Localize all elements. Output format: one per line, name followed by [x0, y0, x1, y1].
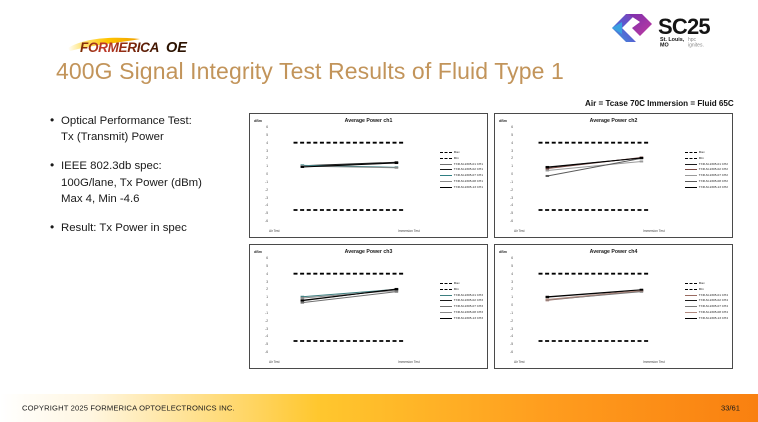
bullet-line: Max 4, Min -4.6: [61, 191, 245, 207]
legend-label: Min: [699, 288, 704, 291]
bullet-item: •IEEE 802.3db spec:100G/lane, Tx Power (…: [50, 158, 245, 207]
y-tick-label: 2: [256, 156, 268, 160]
x-tick-label: Immersion Test: [398, 360, 420, 364]
legend-item: TXR-M-2305-07 CH3: [440, 305, 483, 308]
y-tick-label: 0: [501, 303, 513, 307]
legend-swatch-icon: [685, 181, 697, 182]
y-tick-label: 4: [256, 272, 268, 276]
legend-swatch-icon: [685, 318, 697, 319]
legend-label: TXR-M-2305-08 CH1: [454, 180, 483, 183]
formerica-logo: FORMERICA OE: [66, 36, 216, 56]
x-tick-label: Immersion Test: [398, 229, 420, 233]
legend-item: TXR-M-2305-13 CH2: [685, 186, 728, 189]
legend-item: TXR-M-2305-08 CH1: [440, 180, 483, 183]
slide-canvas: FORMERICA OE SC25 St. Louis, M: [0, 0, 758, 422]
chart-panel: dBmAverage Power ch26543210-1-2-3-4-5-6A…: [494, 113, 733, 238]
svg-text:FORMERICA: FORMERICA: [80, 40, 159, 55]
legend-swatch-icon: [440, 318, 452, 319]
legend-label: Max: [699, 151, 705, 154]
svg-text:ignites.: ignites.: [688, 43, 704, 49]
legend-swatch-icon: [440, 295, 452, 296]
y-tick-label: 1: [256, 164, 268, 168]
legend-swatch-icon: [440, 181, 452, 182]
y-tick-label: -4: [501, 334, 513, 338]
y-tick-label: 5: [256, 133, 268, 137]
y-tick-label: 6: [501, 256, 513, 260]
y-tick-label: -5: [501, 211, 513, 215]
legend-item: TXR-M-2305-13 CH4: [685, 317, 728, 320]
y-tick-label: -2: [256, 188, 268, 192]
y-tick-label: -3: [501, 196, 513, 200]
chart-title: Average Power ch3: [250, 249, 487, 255]
chart-grid: dBmAverage Power ch16543210-1-2-3-4-5-6A…: [249, 113, 733, 375]
legend-swatch-icon: [685, 283, 697, 284]
legend-swatch-icon: [685, 175, 697, 176]
legend-swatch-icon: [440, 169, 452, 170]
svg-text:SC25: SC25: [658, 14, 710, 39]
y-tick-label: -1: [256, 180, 268, 184]
legend-swatch-icon: [685, 158, 697, 159]
legend-item: Min: [685, 157, 728, 160]
legend-item: Max: [440, 151, 483, 154]
y-tick-label: -2: [501, 319, 513, 323]
y-tick-label: -1: [501, 180, 513, 184]
bullet-item: •Optical Performance Test:Tx (Transmit) …: [50, 113, 245, 145]
y-tick-label: 4: [501, 141, 513, 145]
bullet-line: 100G/lane, Tx Power (dBm): [61, 175, 245, 191]
bullet-line: IEEE 802.3db spec:: [61, 158, 245, 174]
chart-legend: MaxMinTXR-M-2305-01 CH2TXR-M-2305-02 CH2…: [685, 151, 728, 189]
x-tick-label: Immersion Test: [643, 229, 665, 233]
chart-legend: MaxMinTXR-M-2305-01 CH1TXR-M-2305-02 CH1…: [440, 151, 483, 189]
y-tick-label: 4: [256, 141, 268, 145]
y-tick-label: -4: [256, 203, 268, 207]
legend-swatch-icon: [440, 312, 452, 313]
x-tick-label: Air Test: [269, 229, 280, 233]
y-tick-label: 0: [256, 303, 268, 307]
y-tick-label: 0: [501, 172, 513, 176]
legend-label: TXR-M-2305-02 CH4: [699, 299, 728, 302]
legend-item: Max: [685, 151, 728, 154]
y-tick-label: -3: [501, 327, 513, 331]
legend-item: TXR-M-2305-08 CH4: [685, 311, 728, 314]
legend-swatch-icon: [685, 164, 697, 165]
y-tick-label: 1: [256, 295, 268, 299]
legend-label: TXR-M-2305-08 CH4: [699, 311, 728, 314]
legend-label: TXR-M-2305-02 CH1: [454, 168, 483, 171]
chart-panel: dBmAverage Power ch16543210-1-2-3-4-5-6A…: [249, 113, 488, 238]
bullet-text: Optical Performance Test:Tx (Transmit) P…: [61, 113, 245, 145]
legend-item: TXR-M-2305-07 CH1: [440, 174, 483, 177]
legend-swatch-icon: [440, 164, 452, 165]
legend-swatch-icon: [440, 175, 452, 176]
sc25-logo: SC25 St. Louis, MO hpc ignites.: [602, 8, 750, 48]
series-line: [547, 291, 641, 300]
legend-label: TXR-M-2305-01 CH4: [699, 294, 728, 297]
y-tick-label: -6: [501, 350, 513, 354]
plot-area: 6543210-1-2-3-4-5-6Air TestImmersion Tes…: [515, 258, 662, 352]
legend-label: Max: [454, 151, 460, 154]
chart-panel: dBmAverage Power ch46543210-1-2-3-4-5-6A…: [494, 244, 733, 369]
legend-item: TXR-M-2305-08 CH3: [440, 311, 483, 314]
x-tick-label: Air Test: [269, 360, 280, 364]
legend-item: Max: [685, 282, 728, 285]
legend-swatch-icon: [440, 152, 452, 153]
legend-item: TXR-M-2305-01 CH1: [440, 163, 483, 166]
legend-item: TXR-M-2305-13 CH1: [440, 186, 483, 189]
legend-label: TXR-M-2305-07 CH2: [699, 174, 728, 177]
series-canvas: [270, 127, 417, 221]
y-tick-label: 3: [256, 149, 268, 153]
legend-item: Min: [685, 288, 728, 291]
bullet-dot-icon: •: [50, 220, 61, 236]
plot-area: 6543210-1-2-3-4-5-6Air TestImmersion Tes…: [270, 127, 417, 221]
plot-area: 6543210-1-2-3-4-5-6Air TestImmersion Tes…: [270, 258, 417, 352]
legend-label: TXR-M-2305-02 CH3: [454, 299, 483, 302]
y-tick-label: 2: [501, 156, 513, 160]
y-tick-label: 1: [501, 164, 513, 168]
legend-swatch-icon: [685, 169, 697, 170]
legend-label: TXR-M-2305-13 CH4: [699, 317, 728, 320]
svg-text:MO: MO: [660, 43, 669, 49]
y-tick-label: 6: [256, 125, 268, 129]
bullet-text: IEEE 802.3db spec:100G/lane, Tx Power (d…: [61, 158, 245, 207]
legend-label: TXR-M-2305-01 CH1: [454, 163, 483, 166]
chart-panel: dBmAverage Power ch36543210-1-2-3-4-5-6A…: [249, 244, 488, 369]
legend-swatch-icon: [440, 158, 452, 159]
bullet-list: •Optical Performance Test:Tx (Transmit) …: [50, 113, 245, 249]
legend-swatch-icon: [685, 312, 697, 313]
legend-item: TXR-M-2305-01 CH3: [440, 294, 483, 297]
y-tick-label: -4: [256, 334, 268, 338]
footer-page-number: 33/61: [721, 404, 740, 413]
legend-item: Min: [440, 288, 483, 291]
legend-swatch-icon: [440, 300, 452, 301]
legend-label: TXR-M-2305-13 CH1: [454, 186, 483, 189]
y-tick-label: -5: [501, 342, 513, 346]
y-tick-label: 6: [256, 256, 268, 260]
legend-swatch-icon: [685, 295, 697, 296]
footer-bar: COPYRIGHT 2025 FORMERICA OPTOELECTRONICS…: [0, 394, 758, 422]
legend-label: TXR-M-2305-08 CH3: [454, 311, 483, 314]
y-tick-label: -4: [501, 203, 513, 207]
legend-label: TXR-M-2305-01 CH2: [699, 163, 728, 166]
legend-item: TXR-M-2305-01 CH2: [685, 163, 728, 166]
legend-item: TXR-M-2305-02 CH2: [685, 168, 728, 171]
legend-label: Min: [454, 288, 459, 291]
legend-label: TXR-M-2305-08 CH2: [699, 180, 728, 183]
x-tick-label: Air Test: [514, 229, 525, 233]
legend-swatch-icon: [685, 152, 697, 153]
bullet-text: Result: Tx Power in spec: [61, 220, 245, 236]
legend-label: TXR-M-2305-13 CH2: [699, 186, 728, 189]
x-tick-label: Immersion Test: [643, 360, 665, 364]
legend-label: TXR-M-2305-01 CH3: [454, 294, 483, 297]
y-tick-label: 3: [501, 280, 513, 284]
chart-legend: MaxMinTXR-M-2305-01 CH4TXR-M-2305-02 CH4…: [685, 282, 728, 320]
series-canvas: [270, 258, 417, 352]
legend-label: TXR-M-2305-07 CH3: [454, 305, 483, 308]
y-tick-label: -6: [256, 350, 268, 354]
plot-area: 6543210-1-2-3-4-5-6Air TestImmersion Tes…: [515, 127, 662, 221]
bullet-dot-icon: •: [50, 113, 61, 145]
legend-swatch-icon: [685, 300, 697, 301]
y-tick-label: 0: [256, 172, 268, 176]
legend-swatch-icon: [440, 187, 452, 188]
legend-item: Min: [440, 157, 483, 160]
legend-label: Min: [454, 157, 459, 160]
y-tick-label: 6: [501, 125, 513, 129]
bullet-dot-icon: •: [50, 158, 61, 207]
chart-title: Average Power ch1: [250, 118, 487, 124]
y-tick-label: -5: [256, 211, 268, 215]
legend-swatch-icon: [685, 306, 697, 307]
svg-text:OE: OE: [166, 40, 188, 56]
y-tick-label: -1: [256, 311, 268, 315]
y-tick-label: -2: [501, 188, 513, 192]
y-tick-label: 5: [501, 133, 513, 137]
legend-swatch-icon: [440, 306, 452, 307]
bullet-line: Optical Performance Test:: [61, 113, 245, 129]
bullet-line: Result: Tx Power in spec: [61, 220, 245, 236]
page-title: 400G Signal Integrity Test Results of Fl…: [56, 58, 564, 85]
y-tick-label: 1: [501, 295, 513, 299]
legend-item: TXR-M-2305-08 CH2: [685, 180, 728, 183]
legend-item: TXR-M-2305-07 CH4: [685, 305, 728, 308]
legend-item: TXR-M-2305-01 CH4: [685, 294, 728, 297]
bullet-line: Tx (Transmit) Power: [61, 129, 245, 145]
legend-swatch-icon: [685, 289, 697, 290]
legend-label: TXR-M-2305-07 CH1: [454, 174, 483, 177]
y-tick-label: -6: [256, 219, 268, 223]
chart-legend: MaxMinTXR-M-2305-01 CH3TXR-M-2305-02 CH3…: [440, 282, 483, 320]
series-canvas: [515, 127, 662, 221]
y-tick-label: 3: [256, 280, 268, 284]
y-tick-label: 3: [501, 149, 513, 153]
legend-label: TXR-M-2305-13 CH3: [454, 317, 483, 320]
legend-item: TXR-M-2305-07 CH2: [685, 174, 728, 177]
y-tick-label: -3: [256, 196, 268, 200]
legend-label: Max: [699, 282, 705, 285]
bullet-item: •Result: Tx Power in spec: [50, 220, 245, 236]
legend-item: TXR-M-2305-13 CH3: [440, 317, 483, 320]
legend-item: TXR-M-2305-02 CH3: [440, 299, 483, 302]
chart-title: Average Power ch4: [495, 249, 732, 255]
legend-item: Max: [440, 282, 483, 285]
y-tick-label: 2: [256, 287, 268, 291]
legend-item: TXR-M-2305-02 CH1: [440, 168, 483, 171]
series-line: [302, 289, 396, 300]
y-tick-label: 4: [501, 272, 513, 276]
y-tick-label: -5: [256, 342, 268, 346]
legend-label: TXR-M-2305-02 CH2: [699, 168, 728, 171]
legend-swatch-icon: [440, 289, 452, 290]
y-tick-label: 2: [501, 287, 513, 291]
y-tick-label: -2: [256, 319, 268, 323]
y-tick-label: -1: [501, 311, 513, 315]
series-canvas: [515, 258, 662, 352]
y-tick-label: -6: [501, 219, 513, 223]
chart-title: Average Power ch2: [495, 118, 732, 124]
legend-swatch-icon: [685, 187, 697, 188]
footer-copyright: COPYRIGHT 2025 FORMERICA OPTOELECTRONICS…: [22, 404, 235, 413]
legend-label: Min: [699, 157, 704, 160]
legend-label: Max: [454, 282, 460, 285]
test-condition-label: Air = Tcase 70C Immersion = Fluid 65C: [585, 99, 734, 108]
y-tick-label: -3: [256, 327, 268, 331]
y-tick-label: 5: [501, 264, 513, 268]
y-tick-label: 5: [256, 264, 268, 268]
legend-label: TXR-M-2305-07 CH4: [699, 305, 728, 308]
legend-swatch-icon: [440, 283, 452, 284]
legend-item: TXR-M-2305-02 CH4: [685, 299, 728, 302]
x-tick-label: Air Test: [514, 360, 525, 364]
